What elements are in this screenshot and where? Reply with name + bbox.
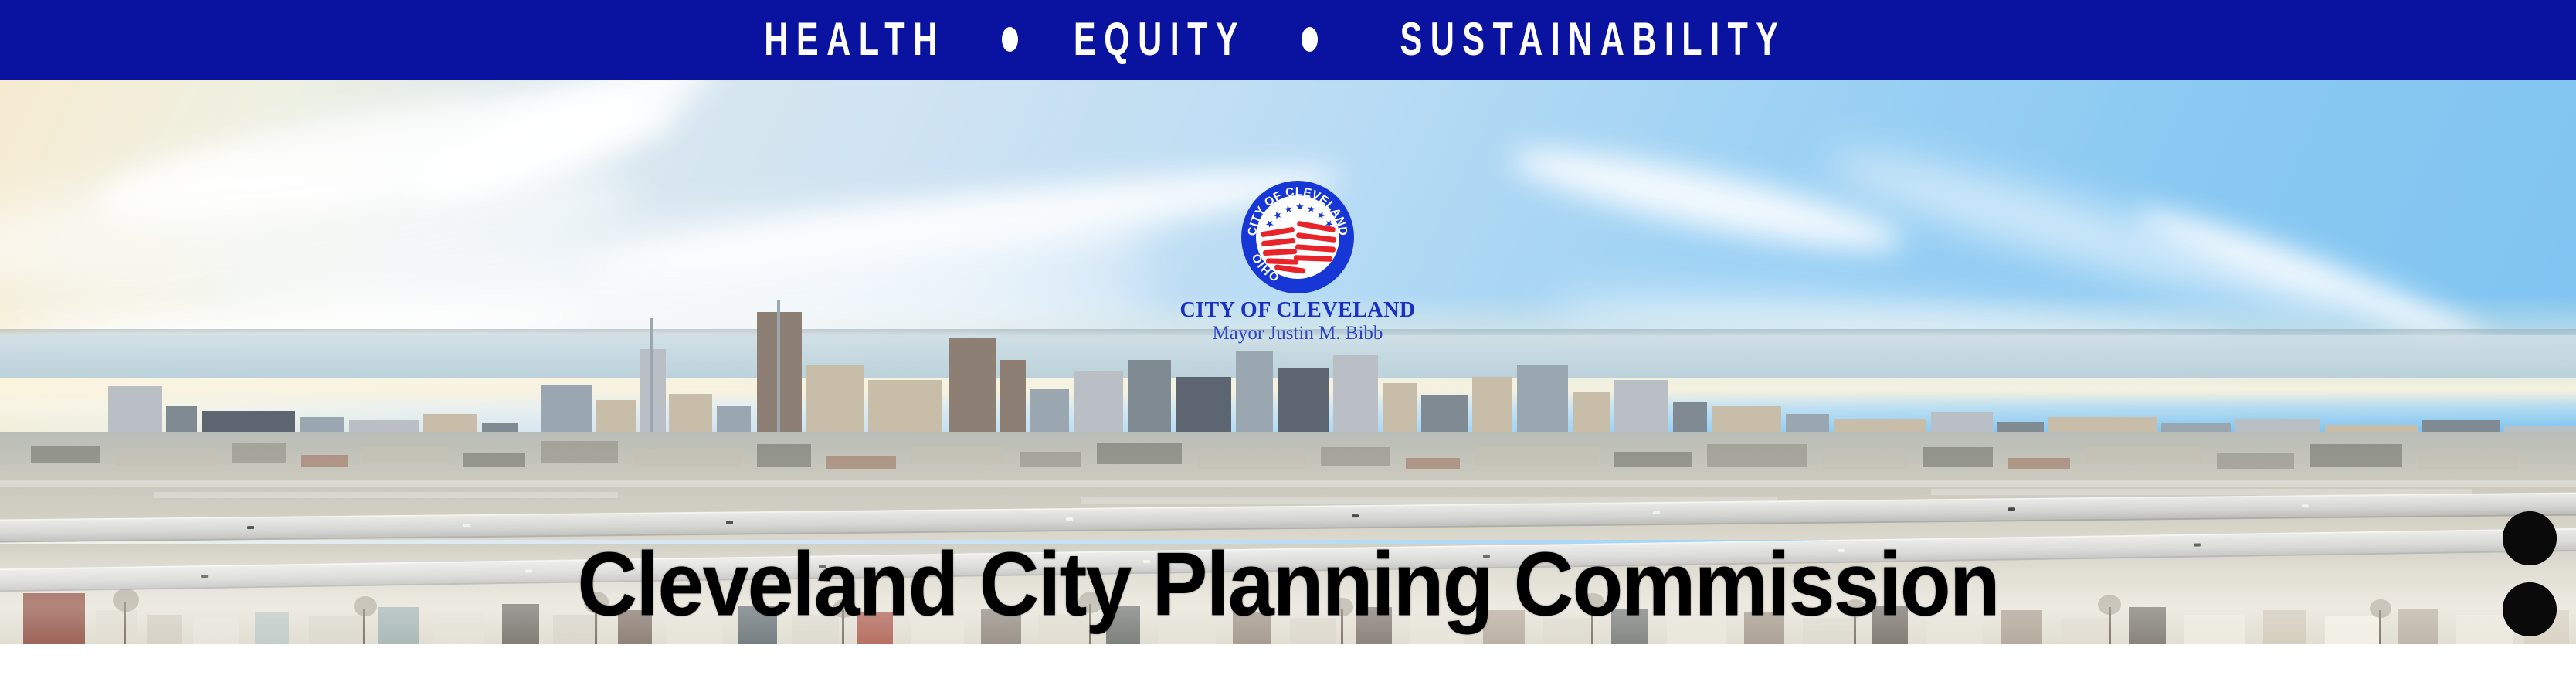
seal-flag-stripe [1274,264,1306,273]
social-links [2503,511,2558,644]
youtube-icon [2503,511,2557,565]
tagline-separator-dot-1 [1002,27,1018,52]
tagline-word-equity: EQUITY [1074,16,1246,63]
tagline-banner-inner: HEALTH EQUITY SUSTAINABILITY [742,19,1834,60]
seal-star: ★ [1295,202,1305,212]
youtube-link[interactable] [2503,511,2557,565]
seal-star: ★ [1306,203,1317,215]
seal-flag-stripe [1263,249,1297,256]
seal-flag-stripe [1261,227,1295,238]
city-of-cleveland-seal-block: CITY OF CLEVELAND OHIO ★ ★ ★ ★ ★ ★ ★ [1159,181,1437,344]
seal-flag-stripe [1261,238,1295,247]
tagline-banner: HEALTH EQUITY SUSTAINABILITY [0,0,2576,80]
tagline-word-health: HEALTH [764,16,945,63]
tagline-separator-dot-2 [1302,27,1318,52]
mid-city-fabric [0,432,2576,540]
bottom-white-strip [0,644,2576,682]
seal-star: ★ [1283,203,1294,215]
seal-subtitle: Mayor Justin M. Bibb [1159,324,1437,344]
instagram-icon [2503,582,2557,636]
seal-star: ★ [1271,209,1283,221]
seal-inner-disc: ★ ★ ★ ★ ★ ★ ★ [1256,195,1339,279]
city-of-cleveland-seal-icon: CITY OF CLEVELAND OHIO ★ ★ ★ ★ ★ ★ ★ [1241,181,1354,293]
page-root: HEALTH EQUITY SUSTAINABILITY [0,0,2576,682]
seal-flag-stripe [1296,232,1336,243]
tagline-word-sustainability: SUSTAINABILITY [1400,16,1787,63]
page-title: Cleveland City Planning Commission [0,539,2576,629]
hero-photo: CITY OF CLEVELAND OHIO ★ ★ ★ ★ ★ ★ ★ [0,80,2576,644]
seal-flag-stripe [1295,244,1336,253]
seal-flag-stripe [1294,255,1332,262]
instagram-link[interactable] [2503,582,2557,636]
seal-title: CITY OF CLEVELAND [1159,299,1437,321]
